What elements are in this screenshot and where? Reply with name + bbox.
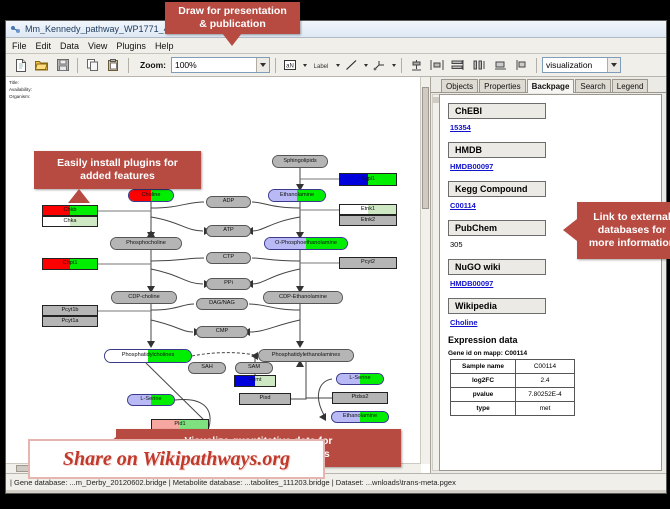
table-row: typemet (451, 402, 575, 416)
callout-plugins-line2: added features (57, 170, 178, 183)
gene-node-pcyt1b[interactable]: Pcyt1b (42, 305, 98, 316)
node-fill (306, 238, 347, 249)
node-fill (148, 350, 191, 362)
svg-text:Label: Label (314, 64, 329, 70)
backpage-link-nugo-wiki[interactable]: HMDB00097 (450, 279, 661, 288)
node-fill (340, 216, 396, 225)
node-fill (43, 306, 97, 315)
node-fill (105, 350, 148, 362)
tab-search[interactable]: Search (575, 79, 610, 92)
expression-table: Sample nameC00114log2FC2.4pvalue7.80252E… (450, 359, 575, 416)
menu-item-file[interactable]: File (12, 41, 27, 51)
node-fill (43, 217, 70, 226)
pathvisio-icon (10, 24, 21, 35)
canvas-vertical-scrollbar[interactable] (420, 77, 430, 464)
zoom-value: 100% (175, 60, 197, 70)
node-fill (43, 206, 70, 215)
metabolite-node-ctp[interactable]: CTP (206, 252, 251, 264)
node-fill (340, 174, 368, 185)
callout-links-line3: more information (589, 237, 670, 250)
node-fill (197, 327, 247, 337)
callout-plugins-line1: Easily install plugins for (57, 157, 178, 170)
metabolite-node-sphingolipids[interactable]: Sphingolipids (272, 155, 328, 168)
metabolite-node-sam[interactable]: SAM (235, 362, 273, 374)
zoom-label: Zoom: (140, 60, 166, 70)
expression-value: 7.80252E-4 (516, 388, 575, 402)
callout-draw-arrow (222, 33, 242, 46)
metabolite-node-atp[interactable]: ATP (206, 225, 251, 237)
metabolite-node-l_serine_left[interactable]: L-Serine (127, 394, 175, 406)
node-fill (189, 363, 225, 373)
side-panel: ObjectsPropertiesBackpageSearchLegend Ch… (431, 77, 666, 473)
tab-backpage[interactable]: Backpage (527, 79, 575, 93)
backpage-link-hmdb[interactable]: HMDB00097 (450, 162, 661, 171)
gene-node-ptdss2[interactable]: Ptdss2 (332, 392, 388, 404)
callout-plugins-arrow (68, 189, 90, 203)
metabolite-node-cdp_ethanolamine[interactable]: CDP-Ethanolamine (263, 291, 343, 304)
toolbar-separator (275, 58, 276, 73)
table-row: Sample nameC00114 (451, 360, 575, 374)
node-fill (43, 317, 97, 326)
gene-node-pcyt1a[interactable]: Pcyt1a (42, 316, 98, 327)
callout-links-line2: databases for (589, 224, 670, 237)
metabolite-node-l_serine_right[interactable]: L-Serine (336, 373, 384, 385)
tab-objects[interactable]: Objects (441, 79, 478, 92)
scrollbar-thumb[interactable] (422, 87, 429, 209)
distribute-icon[interactable] (428, 56, 447, 75)
backpage-header-kegg-compound: Kegg Compound (448, 181, 546, 197)
open-folder-icon[interactable] (32, 56, 51, 75)
metabolite-node-adp[interactable]: ADP (206, 196, 251, 208)
new-file-icon[interactable] (11, 56, 30, 75)
metabolite-node-phosphatidylcholines[interactable]: Phosphatidylcholines (104, 349, 192, 363)
node-fill (111, 238, 181, 249)
table-row: log2FC2.4 (451, 374, 575, 388)
toolbar-separator (128, 58, 129, 73)
metabolite-node-phosphocholine[interactable]: Phosphocholine (110, 237, 182, 250)
node-fill (207, 279, 250, 289)
node-fill (151, 190, 173, 201)
visualization-combobox[interactable]: visualization (542, 57, 621, 73)
node-fill (264, 292, 342, 303)
node-fill (112, 292, 176, 303)
expression-value: met (516, 402, 575, 416)
zoom-combobox[interactable]: 100% (171, 57, 270, 73)
metabolite-node-cmp[interactable]: CMP (196, 326, 248, 338)
node-fill (332, 412, 360, 422)
node-fill (273, 156, 327, 167)
gene-node-etnk2[interactable]: Etnk2 (339, 215, 397, 226)
title-bar: Mm_Kennedy_pathway_WP1771_45176.gpml (6, 21, 666, 38)
copy-icon[interactable] (83, 56, 102, 75)
backpage-link-chebi[interactable]: 15354 (450, 123, 661, 132)
stack-icon[interactable] (449, 56, 468, 75)
menu-item-data[interactable]: Data (60, 41, 79, 51)
node-fill (340, 205, 368, 214)
main-body: Title: Availability: Organism: (6, 77, 666, 473)
metabolite-node-choline_top[interactable]: Choline (128, 189, 174, 202)
callout-links-line1: Link to external (589, 211, 670, 224)
expression-key: Sample name (451, 360, 516, 374)
toolbar: Zoom: 100% aN Label (6, 54, 666, 77)
node-fill (265, 238, 306, 249)
node-fill (207, 253, 250, 263)
callout-draw: Draw for presentation & publication (165, 2, 300, 34)
backpage-header-nugo-wiki: NuGO wiki (448, 259, 546, 275)
backpage-header-hmdb: HMDB (448, 142, 546, 158)
svg-text:aN: aN (286, 64, 294, 70)
node-fill (337, 374, 360, 384)
backpage-header-chebi: ChEBI (448, 103, 546, 119)
table-row: pvalue7.80252E-4 (451, 388, 575, 402)
line-dropdown-icon[interactable] (364, 64, 368, 67)
node-fill (236, 363, 272, 373)
order-icon[interactable] (512, 56, 531, 75)
gene-node-chkb[interactable]: Chkb (42, 205, 98, 216)
metabolite-node-phosphatidylethanolamines[interactable]: Phosphatidylethanolamines (258, 349, 354, 362)
expression-value: C00114 (516, 360, 575, 374)
side-panel-tabs: ObjectsPropertiesBackpageSearchLegend (431, 77, 666, 93)
node-fill (368, 205, 396, 214)
node-fill (70, 259, 97, 269)
paste-icon[interactable] (104, 56, 123, 75)
menu-item-view[interactable]: View (88, 41, 107, 51)
connector-icon[interactable] (370, 56, 389, 75)
backpage-header-wikipedia: Wikipedia (448, 298, 546, 314)
tab-properties[interactable]: Properties (479, 79, 525, 92)
expression-value: 2.4 (516, 374, 575, 388)
datanode-icon[interactable]: aN (281, 56, 300, 75)
expression-key: type (451, 402, 516, 416)
expression-key: log2FC (451, 374, 516, 388)
expression-key: pvalue (451, 388, 516, 402)
pathway-drawing[interactable]: Title: Availability: Organism: (6, 77, 430, 473)
callout-draw-line2: & publication (178, 18, 287, 31)
node-fill (151, 395, 174, 405)
node-fill (333, 393, 387, 403)
menu-bar: File Edit Data View Plugins Help (6, 38, 666, 54)
metabolite-node-sah[interactable]: SAH (188, 362, 226, 374)
share-banner-text: Share on Wikipathways.org (63, 448, 290, 471)
metabolite-node-ethanolamine_top[interactable]: Ethanolamine (268, 189, 326, 202)
node-fill (360, 374, 383, 384)
gene-node-chka[interactable]: Chka (42, 216, 98, 227)
share-banner: Share on Wikipathways.org (28, 439, 325, 479)
gene-node-pisd[interactable]: Pisd (239, 393, 291, 405)
node-fill (368, 174, 396, 185)
node-fill (70, 206, 97, 215)
node-fill (255, 376, 275, 386)
menu-item-edit[interactable]: Edit (36, 41, 52, 51)
node-fill (128, 395, 151, 405)
line-icon[interactable] (342, 56, 361, 75)
expression-data-title: Expression data (448, 335, 661, 345)
spacing-icon[interactable] (470, 56, 489, 75)
node-fill (207, 197, 250, 207)
node-fill (235, 376, 255, 386)
toolbar-separator (77, 58, 78, 73)
node-fill (129, 190, 151, 201)
metabolite-node-ppi[interactable]: PPi (206, 278, 251, 290)
gene-id-line: Gene id on mapp: C00114 (448, 350, 661, 357)
label-dropdown-icon[interactable] (336, 64, 340, 67)
node-fill (360, 412, 388, 422)
datanode-dropdown-icon[interactable] (303, 64, 307, 67)
metabolite-node-o_phosphoethanolamine[interactable]: O-Phosphoethanolamine (264, 237, 348, 250)
menu-item-help[interactable]: Help (155, 41, 174, 51)
callout-draw-line1: Draw for presentation (178, 5, 287, 18)
backpage-panel: ChEBI15354HMDBHMDB00097Kegg CompoundC001… (439, 94, 662, 471)
pathway-canvas[interactable]: Title: Availability: Organism: (6, 77, 431, 473)
node-fill (269, 190, 297, 201)
menu-item-plugins[interactable]: Plugins (116, 41, 146, 51)
backpage-link-wikipedia[interactable]: Choline (450, 318, 661, 327)
chevron-down-icon[interactable] (256, 58, 269, 72)
application-window: Mm_Kennedy_pathway_WP1771_45176.gpml Fil… (5, 20, 667, 494)
callout-plugins: Easily install plugins for added feature… (34, 151, 201, 189)
gene-node-sgpl1[interactable]: Sgpl1 (339, 173, 397, 186)
node-fill (197, 299, 247, 309)
label-icon[interactable]: Label (309, 56, 333, 75)
toolbar-separator (401, 58, 402, 73)
node-fill (70, 217, 97, 226)
tab-legend[interactable]: Legend (612, 79, 649, 92)
callout-links-arrow (563, 219, 577, 241)
node-fill (207, 226, 250, 236)
align-icon[interactable] (407, 56, 426, 75)
node-fill (297, 190, 325, 201)
save-icon[interactable] (53, 56, 72, 75)
chevron-down-icon[interactable] (607, 58, 620, 72)
node-fill (240, 394, 290, 404)
node-fill (43, 259, 70, 269)
gene-node-pcyt2[interactable]: Pcyt2 (339, 257, 397, 269)
gene-node-pemt[interactable]: Pemt (234, 375, 276, 387)
visualization-value: visualization (546, 60, 592, 70)
gene-node-etnk1[interactable]: Etnk1 (339, 204, 397, 215)
node-fill (340, 258, 396, 268)
metabolite-node-dag_nag[interactable]: DAG/NAG (196, 298, 248, 310)
metabolite-node-ethanolamine_right[interactable]: Ethanolamine (331, 411, 389, 423)
group-icon[interactable] (491, 56, 510, 75)
node-fill (259, 350, 353, 361)
toolbar-separator (536, 58, 537, 73)
connector-dropdown-icon[interactable] (392, 64, 396, 67)
callout-links: Link to external databases for more info… (577, 202, 670, 259)
backpage-header-pubchem: PubChem (448, 220, 546, 236)
metabolite-node-cdp_choline[interactable]: CDP-choline (111, 291, 177, 304)
gene-node-chpt1[interactable]: Chpt1 (42, 258, 98, 270)
